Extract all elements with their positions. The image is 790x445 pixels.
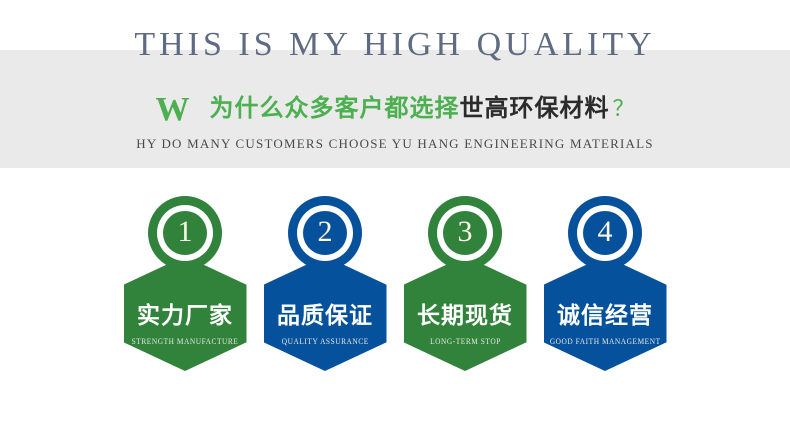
page-title: THIS IS MY HIGH QUALITY: [0, 26, 790, 64]
headline-green-part: 为什么众多客户都选择: [209, 94, 459, 122]
medallion-number-disc: 2: [303, 211, 347, 255]
badge-title-cn: 诚信经营: [557, 296, 653, 330]
headline-question-mark: ？: [612, 97, 634, 122]
w-watermark-letter: W: [155, 91, 189, 128]
medallion-ring: 3: [428, 196, 502, 270]
medallion-number-disc: 3: [443, 211, 487, 255]
hexagon-panel: 诚信经营 GOOD FAITH MANAGEMENT: [544, 256, 667, 371]
english-subtitle: HY DO MANY CUSTOMERS CHOOSE YU HANG ENGI…: [0, 136, 790, 152]
medallion-ring: 4: [568, 196, 642, 270]
badge-item: 3 长期现货 LONG-TERM STOP: [404, 196, 527, 371]
badge-number: 3: [458, 217, 473, 247]
hexagon-panel: 品质保证 QUALITY ASSURANCE: [264, 256, 387, 371]
hexagon-panel: 长期现货 LONG-TERM STOP: [404, 256, 527, 371]
badge-list: 1 实力厂家 STRENGTH MANUFACTURE 2 品质保证 QUALI…: [0, 196, 790, 371]
medallion-ring: 1: [148, 196, 222, 270]
badge-number: 4: [598, 217, 613, 247]
badge-title-en: LONG-TERM STOP: [430, 337, 501, 346]
medallion-inner-gap: 1: [157, 205, 213, 261]
badge-title-en: STRENGTH MANUFACTURE: [132, 337, 239, 346]
medallion-number-disc: 4: [583, 211, 627, 255]
medallion-number-disc: 1: [163, 211, 207, 255]
badge-item: 2 品质保证 QUALITY ASSURANCE: [264, 196, 387, 371]
headline-row: W为什么众多客户都选择世高环保材料？: [0, 88, 790, 129]
badge-number: 2: [318, 217, 333, 247]
badge-title-cn: 长期现货: [417, 296, 513, 330]
badge-number: 1: [178, 217, 193, 247]
hexagon-panel: 实力厂家 STRENGTH MANUFACTURE: [124, 256, 247, 371]
medallion-inner-gap: 4: [577, 205, 633, 261]
badge-title-en: GOOD FAITH MANAGEMENT: [550, 337, 661, 346]
badge-item: 4 诚信经营 GOOD FAITH MANAGEMENT: [544, 196, 667, 371]
headline-brand-part: 世高环保材料: [459, 94, 609, 122]
medallion-inner-gap: 3: [437, 205, 493, 261]
badge-title-en: QUALITY ASSURANCE: [281, 337, 368, 346]
badge-title-cn: 实力厂家: [137, 296, 233, 330]
medallion-ring: 2: [288, 196, 362, 270]
promo-banner: THIS IS MY HIGH QUALITY W为什么众多客户都选择世高环保材…: [0, 0, 790, 445]
badge-item: 1 实力厂家 STRENGTH MANUFACTURE: [124, 196, 247, 371]
medallion-inner-gap: 2: [297, 205, 353, 261]
badge-title-cn: 品质保证: [277, 296, 373, 330]
